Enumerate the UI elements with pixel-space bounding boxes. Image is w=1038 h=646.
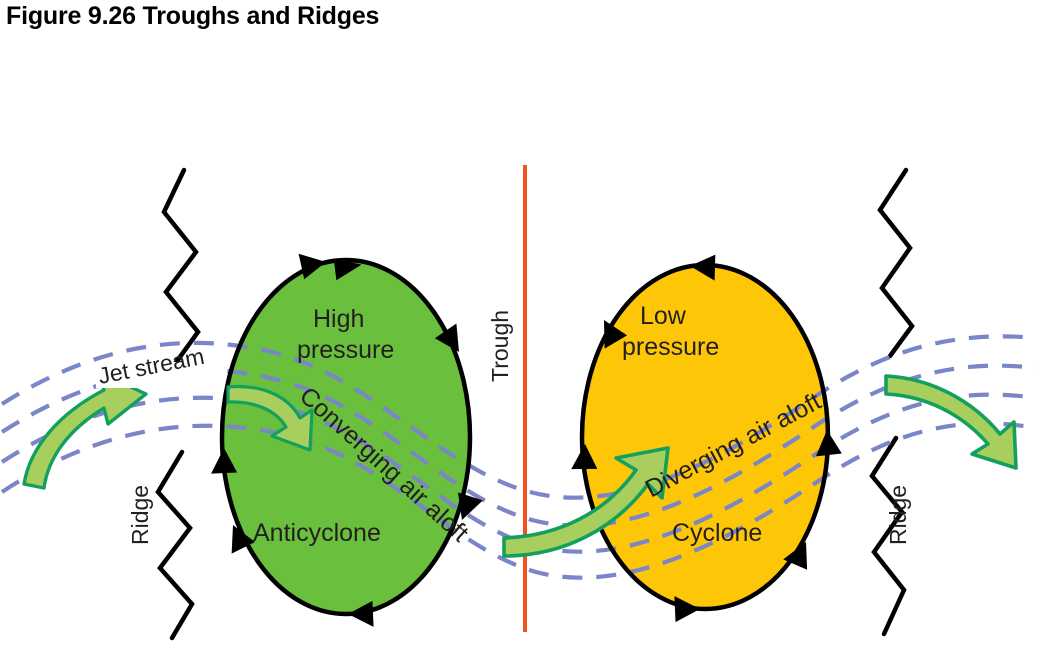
low-pressure-label-line2: pressure xyxy=(622,333,719,361)
anticyclone-label: Anticyclone xyxy=(253,519,381,547)
low-pressure-label-line1: Low xyxy=(640,302,687,330)
high-pressure-label-line1: High xyxy=(313,305,364,333)
ridge-axis-left xyxy=(158,170,198,638)
outflow-arrow-right xyxy=(886,376,1016,468)
ridge-axis-right xyxy=(872,170,912,634)
trough-label: Trough xyxy=(487,310,513,382)
jet-stream-line-3 xyxy=(2,395,1036,552)
inflow-arrow-left xyxy=(24,372,146,488)
cyclone-label: Cyclone xyxy=(672,519,762,547)
figure-page: Figure 9.26 Troughs and Ridges xyxy=(0,0,1038,646)
ridge-right-label: Ridge xyxy=(885,485,911,545)
ridge-left-label: Ridge xyxy=(127,485,153,545)
high-pressure-label-line2: pressure xyxy=(297,336,394,364)
jet-stream-label-group: Jet stream xyxy=(96,343,222,389)
troughs-and-ridges-diagram: Jet stream Ridge Ridge Trough High press… xyxy=(0,0,1038,646)
